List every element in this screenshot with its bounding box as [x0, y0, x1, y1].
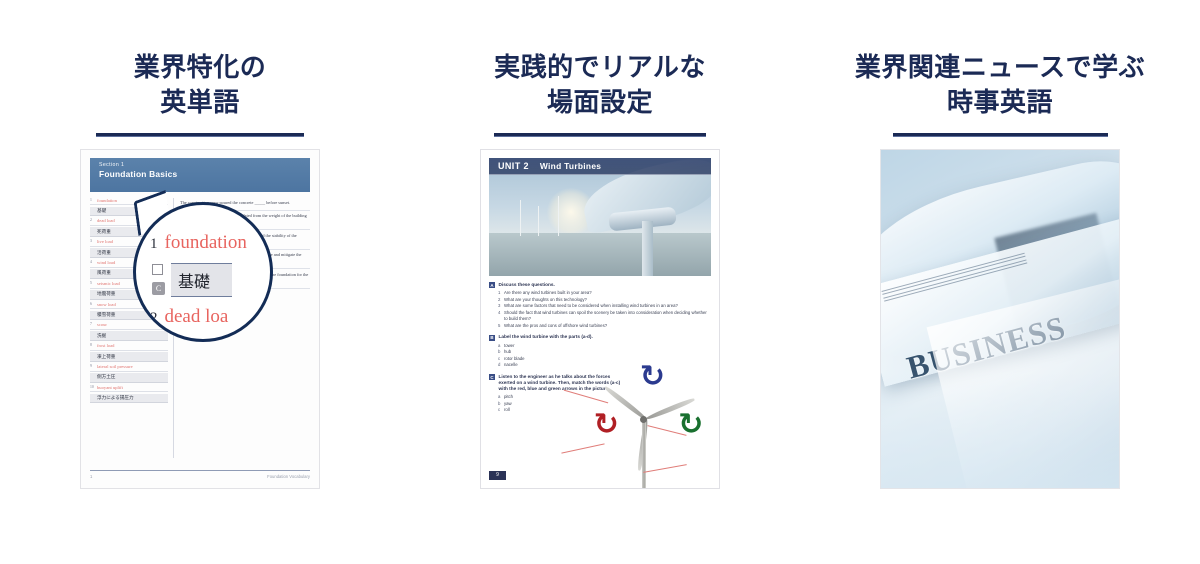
vocabulary-term: lateral soil pressure: [90, 364, 168, 372]
distant-turbine: [538, 206, 539, 236]
section-number: Section 1: [99, 162, 310, 169]
exercise-item: What are the pros and cons of offshore w…: [498, 323, 711, 329]
vocabulary-entry: foundation 基礎: [90, 198, 168, 217]
example-sentence: The _____ from the overflowing river thr…: [179, 230, 310, 249]
vocabulary-entry: snow load 積雪荷重: [90, 302, 168, 321]
exercise-letter-icon: B: [489, 335, 495, 341]
unit-page-number: 9: [489, 471, 506, 480]
section-banner: Section 1 Foundation Basics: [90, 158, 310, 192]
distant-turbine: [520, 200, 521, 236]
feature-columns-row: 業界特化の 英単語 Section 1 Foundation Basics fo…: [0, 0, 1200, 564]
vocabulary-entry: frost load 凍上荷重: [90, 343, 168, 362]
example-sentence: Engineers employed advanced techniques t…: [179, 250, 310, 269]
vocabulary-list: foundation 基礎 dead load 死荷重 live load 活荷…: [90, 198, 168, 458]
exercise-item: tower: [498, 343, 711, 349]
vocabulary-entry: dead load 死荷重: [90, 218, 168, 237]
vocabulary-meaning: 活荷重: [90, 248, 168, 258]
diagram-tower: [642, 419, 646, 488]
vocabulary-entry: lateral soil pressure 側方土圧: [90, 364, 168, 383]
roll-arrow-icon: ↻: [678, 410, 703, 440]
exercise-a-header: A Discuss these questions.: [489, 282, 711, 288]
vocabulary-term: seismic load: [90, 281, 168, 289]
sea-band: [489, 233, 711, 275]
example-sentence: The engineer had to consider _____ when …: [179, 269, 310, 288]
feature-heading-scenario: 実践的でリアルな 場面設定: [488, 50, 712, 120]
exercise-item: What are your thoughts on this technolog…: [498, 297, 711, 303]
exercise-item: What are some factors that need to be co…: [498, 303, 711, 309]
exercise-a: A Discuss these questions. Are there any…: [489, 282, 711, 329]
exercise-b-header: B Label the wind turbine with the parts …: [489, 334, 711, 340]
vocabulary-entry: buoyant uplift 浮力による揚圧力: [90, 385, 168, 404]
business-newspaper-photo: BUSINESS: [880, 149, 1120, 489]
page-footer: 1 Foundation Vocabulary: [90, 470, 310, 479]
section-title: Foundation Basics: [99, 169, 310, 181]
vocabulary-term: buoyant uplift: [90, 385, 168, 393]
exercise-letter-icon: C: [489, 374, 495, 380]
photo-bottom-haze: [881, 373, 1119, 488]
exercise-a-items: Are there any wind turbines built in you…: [489, 290, 711, 329]
unit-banner: UNIT 2 Wind Turbines: [489, 158, 711, 175]
vocabulary-meaning: 地震荷重: [90, 290, 168, 300]
example-sentence: The construction crew poured the concret…: [179, 198, 310, 211]
unit-textbook-page: UNIT 2 Wind Turbines A Discuss these que…: [480, 149, 720, 489]
heading-underline-scenario: [494, 133, 706, 137]
vocabulary-term: wind load: [90, 260, 168, 268]
page-body: foundation 基礎 dead load 死荷重 live load 活荷…: [90, 198, 310, 458]
heading-underline-news: [893, 133, 1108, 137]
yaw-arrow-icon: ↻: [640, 362, 665, 392]
vocabulary-meaning: 洗掘: [90, 331, 168, 341]
distant-turbine: [558, 196, 559, 236]
pitch-arrow-icon: ↻: [594, 410, 619, 440]
vocabulary-term: snow load: [90, 302, 168, 310]
exercise-item: Are there any wind turbines built in you…: [498, 290, 711, 296]
vocabulary-meaning: 基礎: [90, 207, 168, 217]
vocabulary-entry: live load 活荷重: [90, 239, 168, 258]
media-unit-textbook: UNIT 2 Wind Turbines A Discuss these que…: [480, 149, 720, 489]
footer-page-number: 1: [90, 474, 92, 479]
vocabulary-entry: seismic load 地震荷重: [90, 281, 168, 300]
vocabulary-term: dead load: [90, 218, 168, 226]
vocabulary-textbook-page: Section 1 Foundation Basics foundation 基…: [80, 149, 320, 489]
example-sentence-list: The construction crew poured the concret…: [173, 198, 310, 458]
vocabulary-term: live load: [90, 239, 168, 247]
feature-column-vocabulary: 業界特化の 英単語 Section 1 Foundation Basics fo…: [0, 50, 400, 494]
media-vocabulary-textbook: Section 1 Foundation Basics foundation 基…: [80, 149, 320, 489]
example-sentence: The _____ of the structure was calculate…: [179, 211, 310, 230]
feature-column-news: 業界関連ニュースで学ぶ 時事英語 BUSINESS: [800, 50, 1200, 494]
feature-heading-news: 業界関連ニュースで学ぶ 時事英語: [849, 50, 1151, 120]
exercise-letter-icon: A: [489, 282, 495, 288]
heading-underline-vocabulary: [96, 133, 304, 137]
vocabulary-entry: wind load 風荷重: [90, 260, 168, 279]
unit-exercises: A Discuss these questions. Are there any…: [489, 282, 711, 464]
exercise-item: Should the fact that wind turbines can s…: [498, 310, 711, 322]
exercise-b-title: Label the wind turbine with the parts (a…: [499, 334, 593, 340]
turbine-tower-closeup: [642, 221, 653, 275]
feature-heading-vocabulary: 業界特化の 英単語: [128, 50, 273, 120]
vocabulary-entry: scour 洗掘: [90, 322, 168, 341]
vocabulary-term: frost load: [90, 343, 168, 351]
vocabulary-meaning: 死荷重: [90, 227, 168, 237]
vocabulary-meaning: 凍上荷重: [90, 352, 168, 362]
media-business-newspaper: BUSINESS: [880, 149, 1120, 489]
wind-farm-photo: [489, 158, 711, 276]
turbine-diagram: ↻ ↻ ↻: [581, 356, 709, 489]
vocabulary-meaning: 風荷重: [90, 269, 168, 279]
exercise-item: hub: [498, 349, 711, 355]
vocabulary-meaning: 浮力による揚圧力: [90, 394, 168, 404]
leader-line: [561, 443, 604, 453]
vocabulary-meaning: 側方土圧: [90, 373, 168, 383]
feature-column-scenario: 実践的でリアルな 場面設定 UNIT 2 Wind Turbines: [400, 50, 800, 494]
vocabulary-term: foundation: [90, 198, 168, 206]
leader-line: [643, 464, 687, 473]
footer-label: Foundation Vocabulary: [267, 474, 310, 479]
vocabulary-term: scour: [90, 322, 168, 330]
unit-number: UNIT 2: [498, 161, 529, 171]
exercise-a-title: Discuss these questions.: [499, 282, 555, 288]
vocabulary-meaning: 積雪荷重: [90, 311, 168, 321]
unit-title: Wind Turbines: [540, 161, 601, 171]
